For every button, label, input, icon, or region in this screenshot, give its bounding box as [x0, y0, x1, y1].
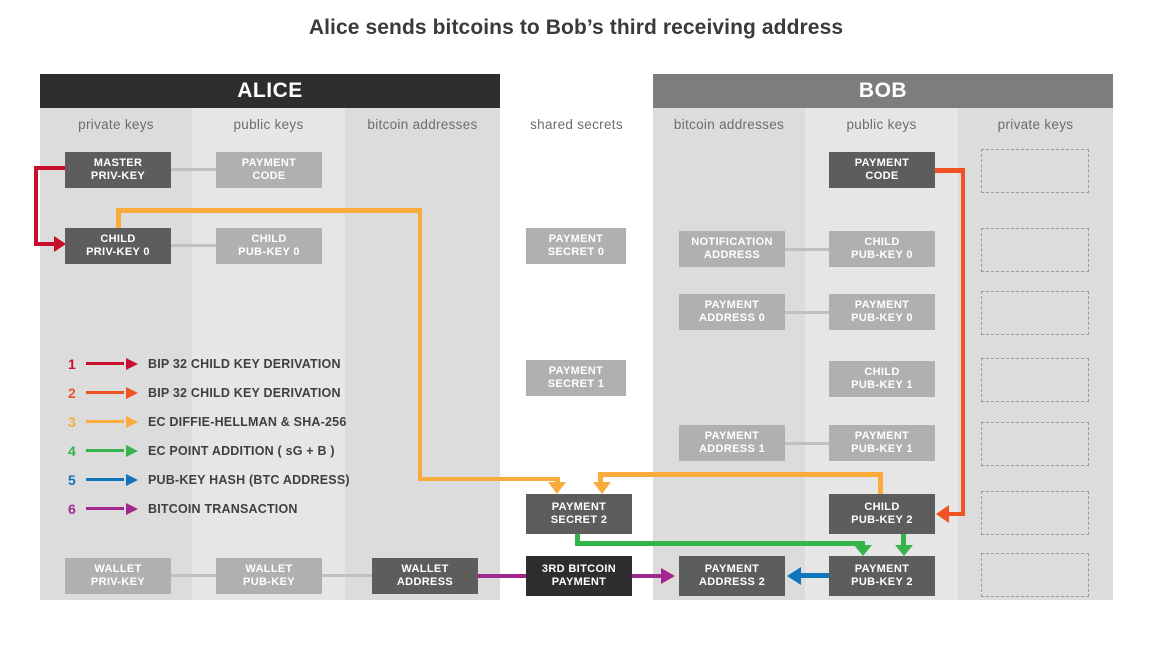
shared-secrets-col-label: shared secrets: [500, 117, 653, 132]
alice-col-label-bitcoin-addresses: bitcoin addresses: [345, 117, 500, 132]
legend-label-1: BIP 32 CHILD KEY DERIVATION: [148, 357, 341, 371]
flow-blue-arrowhead: [787, 567, 801, 585]
legend-arrow-2-icon: [86, 387, 138, 399]
box-child-priv-key-0[interactable]: CHILD PRIV-KEY 0: [65, 228, 171, 264]
legend-label-2: BIP 32 CHILD KEY DERIVATION: [148, 386, 341, 400]
legend-number-2: 2: [68, 385, 82, 401]
bob-private-key-placeholder: [981, 553, 1089, 597]
flow-purple-seg-1: [478, 574, 526, 578]
flow-green-b-vert: [901, 534, 906, 545]
bob-col-bitcoin-addresses-bg: [653, 108, 805, 600]
box-notification-address-line2: ADDRESS: [704, 249, 760, 262]
box-bob-payment-pub-key-2-line2: PUB-KEY 2: [851, 576, 913, 589]
box-bob-payment-address-1[interactable]: PAYMENT ADDRESS 1: [679, 425, 785, 461]
bob-private-key-placeholder: [981, 291, 1089, 335]
bob-col-label-bitcoin-addresses: bitcoin addresses: [653, 117, 805, 132]
bob-private-key-placeholder: [981, 228, 1089, 272]
bob-col-label-public-keys: public keys: [805, 117, 958, 132]
legend-label-3: EC DIFFIE-HELLMAN & SHA-256: [148, 415, 346, 429]
legend-row-5: 5 PUB-KEY HASH (BTC ADDRESS): [68, 471, 350, 489]
box-third-bitcoin-payment-line2: PAYMENT: [552, 576, 606, 589]
box-third-bitcoin-payment-line1: 3RD BITCOIN: [542, 563, 616, 576]
link-childpriv0-to-childpub0: [171, 244, 216, 247]
box-notification-address-line1: NOTIFICATION: [691, 236, 773, 249]
flow-green-a-arrowhead: [854, 545, 872, 556]
box-wallet-address-line1: WALLET: [401, 563, 448, 576]
flow-red-seg-bottom: [34, 242, 56, 246]
legend-arrow-3-icon: [86, 416, 138, 428]
flow-orangered-arrowhead: [936, 505, 949, 523]
flow-purple-seg-2: [632, 574, 663, 578]
box-bob-child-pub-key-1-line1: CHILD: [864, 366, 899, 379]
legend-number-1: 1: [68, 356, 82, 372]
legend-number-6: 6: [68, 501, 82, 517]
box-master-priv-key-line1: MASTER: [94, 157, 143, 170]
box-bob-payment-address-0[interactable]: PAYMENT ADDRESS 0: [679, 294, 785, 330]
legend-number-3: 3: [68, 414, 82, 430]
link-master-to-payment-code: [171, 168, 216, 171]
box-payment-secret-0-line1: PAYMENT: [549, 233, 603, 246]
box-bob-payment-address-2[interactable]: PAYMENT ADDRESS 2: [679, 556, 785, 596]
box-notification-address[interactable]: NOTIFICATION ADDRESS: [679, 231, 785, 267]
box-bob-child-pub-key-0[interactable]: CHILD PUB-KEY 0: [829, 231, 935, 267]
legend-arrow-5-icon: [86, 474, 138, 486]
box-alice-payment-code[interactable]: PAYMENT CODE: [216, 152, 322, 188]
box-child-pub-key-0-line1: CHILD: [251, 233, 286, 246]
box-payment-secret-1-line1: PAYMENT: [549, 365, 603, 378]
box-payment-secret-1[interactable]: PAYMENT SECRET 1: [526, 360, 626, 396]
box-bob-child-pub-key-1[interactable]: CHILD PUB-KEY 1: [829, 361, 935, 397]
box-bob-payment-code[interactable]: PAYMENT CODE: [829, 152, 935, 188]
box-bob-payment-address-1-line1: PAYMENT: [705, 430, 759, 443]
legend-arrow-1-icon: [86, 358, 138, 370]
box-child-priv-key-0-line1: CHILD: [100, 233, 135, 246]
legend-row-2: 2 BIP 32 CHILD KEY DERIVATION: [68, 384, 341, 402]
box-bob-child-pub-key-2[interactable]: CHILD PUB-KEY 2: [829, 494, 935, 534]
legend-label-5: PUB-KEY HASH (BTC ADDRESS): [148, 473, 350, 487]
bob-private-key-placeholder: [981, 149, 1089, 193]
box-bob-child-pub-key-2-line2: PUB-KEY 2: [851, 514, 913, 527]
flow-blue-seg: [800, 573, 830, 578]
box-bob-payment-address-0-line1: PAYMENT: [705, 299, 759, 312]
legend-row-6: 6 BITCOIN TRANSACTION: [68, 500, 298, 518]
box-bob-payment-address-2-line2: ADDRESS 2: [699, 576, 765, 589]
flow-orangered-seg-bottom: [949, 512, 965, 517]
box-bob-child-pub-key-0-line2: PUB-KEY 0: [851, 249, 913, 262]
box-wallet-pub-key[interactable]: WALLET PUB-KEY: [216, 558, 322, 594]
box-payment-secret-2-line1: PAYMENT: [552, 501, 606, 514]
flow-orange-a-arrowhead: [548, 482, 566, 494]
flow-orange-a-horiz-to-secret: [418, 477, 560, 482]
box-bob-payment-code-line2: CODE: [865, 170, 898, 183]
box-bob-payment-pub-key-1-line2: PUB-KEY 1: [851, 443, 913, 456]
link-walletpub-to-walletaddr: [322, 574, 372, 577]
box-wallet-address-line2: ADDRESS: [397, 576, 453, 589]
box-master-priv-key[interactable]: MASTER PRIV-KEY: [65, 152, 171, 188]
flow-red-seg-top: [34, 166, 68, 170]
legend-row-3: 3 EC DIFFIE-HELLMAN & SHA-256: [68, 413, 346, 431]
legend-number-5: 5: [68, 472, 82, 488]
box-child-pub-key-0-line2: PUB-KEY 0: [238, 246, 300, 259]
alice-col-bitcoin-addresses-bg: [345, 108, 500, 600]
box-wallet-pub-key-line1: WALLET: [245, 563, 292, 576]
link-paymentaddr1-to-paymentpub1: [785, 442, 829, 445]
legend-row-1: 1 BIP 32 CHILD KEY DERIVATION: [68, 355, 341, 373]
bob-private-key-placeholder: [981, 491, 1089, 535]
legend-label-4: EC POINT ADDITION ( sG + B ): [148, 444, 335, 458]
box-alice-payment-code-line2: CODE: [252, 170, 285, 183]
legend-label-6: BITCOIN TRANSACTION: [148, 502, 298, 516]
link-paymentaddr0-to-paymentpub0: [785, 311, 829, 314]
bob-header: BOB: [653, 74, 1113, 108]
alice-header: ALICE: [40, 74, 500, 108]
box-bob-payment-address-0-line2: ADDRESS 0: [699, 312, 765, 325]
box-bob-payment-pub-key-1[interactable]: PAYMENT PUB-KEY 1: [829, 425, 935, 461]
box-bob-payment-pub-key-0[interactable]: PAYMENT PUB-KEY 0: [829, 294, 935, 330]
box-child-priv-key-0-line2: PRIV-KEY 0: [86, 246, 150, 259]
box-bob-payment-pub-key-2-line1: PAYMENT: [855, 563, 909, 576]
box-wallet-priv-key-line2: PRIV-KEY: [91, 576, 145, 589]
page-title: Alice sends bitcoins to Bob’s third rece…: [0, 16, 1152, 40]
legend-arrow-4-icon: [86, 445, 138, 457]
flow-orange-b-horiz-left: [598, 472, 883, 477]
box-bob-payment-address-1-line2: ADDRESS 1: [699, 443, 765, 456]
legend-row-4: 4 EC POINT ADDITION ( sG + B ): [68, 442, 335, 460]
flow-purple-arrowhead: [661, 568, 675, 584]
box-bob-child-pub-key-0-line1: CHILD: [864, 236, 899, 249]
box-child-pub-key-0[interactable]: CHILD PUB-KEY 0: [216, 228, 322, 264]
box-wallet-pub-key-line2: PUB-KEY: [243, 576, 295, 589]
flow-red-seg-vert: [34, 166, 38, 246]
flow-green-a-horiz-right: [575, 541, 865, 546]
box-bob-payment-pub-key-1-line1: PAYMENT: [855, 430, 909, 443]
flow-orange-a-horiz-right: [116, 208, 422, 213]
flow-orangered-seg-vert: [961, 168, 966, 516]
box-third-bitcoin-payment[interactable]: 3RD BITCOIN PAYMENT: [526, 556, 632, 596]
alice-col-label-private-keys: private keys: [40, 117, 192, 132]
alice-col-label-public-keys: public keys: [192, 117, 345, 132]
bob-private-key-placeholder: [981, 358, 1089, 402]
box-payment-secret-2[interactable]: PAYMENT SECRET 2: [526, 494, 632, 534]
link-notification-to-childpub0: [785, 248, 829, 251]
box-wallet-address[interactable]: WALLET ADDRESS: [372, 558, 478, 594]
box-alice-payment-code-line1: PAYMENT: [242, 157, 296, 170]
flow-orange-a-vert-down: [418, 208, 423, 481]
flow-orange-b-arrowhead: [593, 482, 611, 494]
box-wallet-priv-key[interactable]: WALLET PRIV-KEY: [65, 558, 171, 594]
box-bob-payment-pub-key-0-line1: PAYMENT: [855, 299, 909, 312]
box-payment-secret-1-line2: SECRET 1: [548, 378, 605, 391]
box-bob-payment-code-line1: PAYMENT: [855, 157, 909, 170]
bob-col-label-private-keys: private keys: [958, 117, 1113, 132]
flow-green-b-arrowhead: [895, 545, 913, 556]
box-bob-payment-address-2-line1: PAYMENT: [705, 563, 759, 576]
box-bob-child-pub-key-1-line2: PUB-KEY 1: [851, 379, 913, 392]
box-wallet-priv-key-line1: WALLET: [94, 563, 141, 576]
box-bob-payment-pub-key-2[interactable]: PAYMENT PUB-KEY 2: [829, 556, 935, 596]
box-payment-secret-2-line2: SECRET 2: [551, 514, 608, 527]
link-walletpriv-to-walletpub: [171, 574, 216, 577]
box-bob-child-pub-key-2-line1: CHILD: [864, 501, 899, 514]
box-payment-secret-0[interactable]: PAYMENT SECRET 0: [526, 228, 626, 264]
legend-number-4: 4: [68, 443, 82, 459]
bob-private-key-placeholder: [981, 422, 1089, 466]
legend-arrow-6-icon: [86, 503, 138, 515]
box-payment-secret-0-line2: SECRET 0: [548, 246, 605, 259]
box-master-priv-key-line2: PRIV-KEY: [91, 170, 145, 183]
box-bob-payment-pub-key-0-line2: PUB-KEY 0: [851, 312, 913, 325]
